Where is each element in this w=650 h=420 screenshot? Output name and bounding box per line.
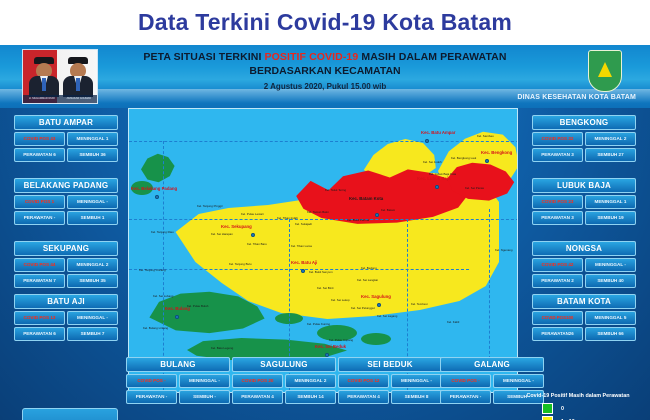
stat-meninggal: MENINGGAL 1 xyxy=(67,132,118,146)
map-legend: Covid-19 Positif Masih dalam Perawatan 0… xyxy=(512,393,644,420)
map-label-kelurahan: Kel. Sei Harapan xyxy=(211,233,233,236)
leader-names: H. MUHAMMAD RUDI AMSAKAR ACHMAD xyxy=(23,95,97,103)
stat-sembuh: SEMBUH 66 xyxy=(585,327,636,341)
map-label-kelurahan: Kel. Bukit Permai xyxy=(347,219,369,222)
map-label-sei-beduk: Kec. Sei Beduk xyxy=(315,345,346,349)
card-title: NONGSA xyxy=(532,241,636,256)
map-label-kelurahan: Kel. Tanjung Riau xyxy=(151,231,174,234)
map-label-kelurahan: Kel. Bedong xyxy=(361,267,377,270)
stat-sembuh: SEMBUH 35 xyxy=(67,274,118,288)
leader-name-left: H. MUHAMMAD RUDI xyxy=(29,98,55,101)
map-label-kelurahan: Kel. Sambau xyxy=(477,135,494,138)
stat-sembuh: SEMBUH - xyxy=(179,390,230,404)
stat-perawatan: PERAWATAN 2 xyxy=(532,274,583,288)
leader-figure-left xyxy=(29,57,59,97)
legend-row: 0 xyxy=(512,403,644,414)
map-point-lubuk-baja xyxy=(435,185,439,189)
map-label-kelurahan: Kel. Sukajadi xyxy=(295,223,312,226)
header-line1-part-a: PETA SITUASI TERKINI xyxy=(143,51,264,63)
header-line-2: BERDASARKAN KECAMATAN xyxy=(120,65,530,77)
map-label-kelurahan: Kel. Ngenang xyxy=(495,249,513,252)
header-date: 2 Agustus 2020, Pukul 15.00 wib xyxy=(120,82,530,91)
card-title: BELAKANG PADANG xyxy=(14,178,118,193)
card-stats: COVID POS 44 MENINGGAL 2 PERAWATAN 7 SEM… xyxy=(14,258,118,288)
stat-perawatan: PERAWATAN 6 xyxy=(14,327,65,341)
map-label-kelurahan: Kel. Tembesi xyxy=(411,303,428,306)
map-label-kelurahan: Kel. Sei Lagang xyxy=(377,315,397,318)
leaders-photo: H. MUHAMMAD RUDI AMSAKAR ACHMAD xyxy=(22,49,98,104)
map-label-kelurahan: Kel. Tiban Indah xyxy=(277,217,298,220)
kecamatan-card-bengkong[interactable]: BENGKONG COVID POS 32 MENINGGAL 2 PERAWA… xyxy=(532,115,636,162)
stat-perawatan: PERAWATAN - xyxy=(14,211,65,225)
map-label-kelurahan: Kel. Sei Binti xyxy=(317,287,333,290)
card-stats: COVID POS 42 MENINGGAL - PERAWATAN 2 SEM… xyxy=(532,258,636,288)
map-point-batam-kota xyxy=(375,213,379,217)
map-point-bulang xyxy=(175,315,179,319)
map-point-batu-aji xyxy=(301,269,305,273)
kecamatan-card-bulang[interactable]: BULANG COVID POS - MENINGGAL - PERAWATAN… xyxy=(126,357,230,404)
stat-sembuh: SEMBUH 27 xyxy=(585,148,636,162)
stat-meninggal: MENINGGAL - xyxy=(493,374,544,388)
kecamatan-card-batam-kota[interactable]: BATAM KOTA COVID POS100 MENINGGAL 5 PERA… xyxy=(532,294,636,341)
kecamatan-card-sekupang[interactable]: SEKUPANG COVID POS 44 MENINGGAL 2 PERAWA… xyxy=(14,241,118,288)
stat-covid-pos: COVID POS 12 xyxy=(338,374,389,388)
stat-covid-pos: COVID POS 23 xyxy=(532,195,583,209)
kecamatan-card-sei-beduk[interactable]: SEI BEDUK COVID POS 12 MENINGGAL - PERAW… xyxy=(338,357,442,404)
stat-perawatan: PERAWATAN - xyxy=(440,390,491,404)
stat-perawatan: PERAWATAN 3 xyxy=(532,148,583,162)
card-title: LUBUK BAJA xyxy=(532,178,636,193)
map-label-kelurahan: Kel. Bulang Lintang xyxy=(143,327,168,330)
stat-covid-pos: COVID POS 44 xyxy=(14,258,65,272)
legend-label: 0 xyxy=(561,406,564,412)
card-title: SEI BEDUK xyxy=(338,357,442,372)
stat-meninggal: MENINGGAL - xyxy=(585,258,636,272)
tie-shape xyxy=(76,78,80,91)
card-stats: COVID POS 1 MENINGGAL - PERAWATAN - SEMB… xyxy=(14,195,118,225)
map-label-kelurahan: Kel. Bengkong Laut xyxy=(451,157,476,160)
stat-sembuh: SEMBUH 36 xyxy=(67,148,118,162)
boundary-dash-mid xyxy=(129,219,518,220)
poster-header: H. MUHAMMAD RUDI AMSAKAR ACHMAD PETA SIT… xyxy=(0,45,650,108)
stat-covid-pos: COVID POS 42 xyxy=(532,258,583,272)
card-stats: COVID POS 20 MENINGGAL 2 PERAWATAN 4 SEM… xyxy=(232,374,336,404)
map-label-sagulung: Kec. Sagulung xyxy=(361,295,391,299)
card-title: GALANG xyxy=(440,357,544,372)
island-galang-small-b xyxy=(361,333,391,345)
boundary-dash-west xyxy=(163,141,164,391)
card-stats: COVID POS 32 MENINGGAL 2 PERAWATAN 3 SEM… xyxy=(532,132,636,162)
map-label-batam-kota: Kec. Batam Kota xyxy=(349,197,383,201)
map-point-sekupang xyxy=(251,233,255,237)
card-title: SEKUPANG xyxy=(14,241,118,256)
map-label-kelurahan: Kel. Pulau Buluh xyxy=(187,305,208,308)
boundary-dash-far-east xyxy=(489,209,490,359)
legend-swatch-1-10 xyxy=(542,416,553,420)
map-label-kelurahan: Kel. Bukit Senyum xyxy=(309,271,333,274)
stat-perawatan: PERAWATAN 6 xyxy=(14,148,65,162)
boundary-dash-north xyxy=(129,141,518,142)
stat-covid-pos: COVID POS - xyxy=(126,374,177,388)
batam-situation-map[interactable]: Kec. Batu Ampar Kec. Bengkong Kec. Lubuk… xyxy=(128,108,518,393)
stat-meninggal: MENINGGAL - xyxy=(391,374,442,388)
map-label-kelurahan: Kel. Batu Legong xyxy=(211,347,233,350)
stat-meninggal: MENINGGAL 5 xyxy=(585,311,636,325)
map-label-kelurahan: Kel. Sei Pelunggut xyxy=(351,307,375,310)
map-label-sekupang: Kec. Sekupang xyxy=(221,225,252,229)
stat-meninggal: MENINGGAL - xyxy=(67,195,118,209)
map-point-batu-ampar xyxy=(425,139,429,143)
kecamatan-card-sagulung[interactable]: SAGULUNG COVID POS 20 MENINGGAL 2 PERAWA… xyxy=(232,357,336,404)
map-label-kelurahan: Kel. Kabil xyxy=(447,321,459,324)
map-label-lubuk-baja: Kec. Lubuk Baja xyxy=(417,177,450,181)
card-stats: COVID POS 12 MENINGGAL - PERAWATAN 4 SEM… xyxy=(338,374,442,404)
map-label-kelurahan: Kel. Lubuk Baja Kota xyxy=(429,173,456,176)
stat-sembuh: SEMBUH 14 xyxy=(285,390,336,404)
stat-sembuh: SEMBUH 19 xyxy=(585,211,636,225)
stat-perawatan: PERAWATAN 4 xyxy=(232,390,283,404)
map-label-kelurahan: Kel. Taman Baloi xyxy=(307,211,329,214)
boundary-dash-south xyxy=(129,269,469,270)
map-label-batu-aji: Kec. Batu Aji xyxy=(291,261,317,265)
map-label-kelurahan: Kel. Sei Lubang xyxy=(153,295,173,298)
map-label-kelurahan: Kel. Pulau Lestari xyxy=(241,213,264,216)
map-label-kelurahan: Kel. Pulau Capang xyxy=(329,339,353,342)
stat-covid-pos: COVID POS 1 xyxy=(14,195,65,209)
map-label-kelurahan: Kel. Sei Langkai xyxy=(357,279,378,282)
leader-figure-right xyxy=(63,57,93,97)
header-line1-part-b: MASIH DALAM PERAWATAN xyxy=(358,51,506,63)
sail-shape xyxy=(598,62,612,77)
stat-meninggal: MENINGGAL 2 xyxy=(285,374,336,388)
legend-swatch-0 xyxy=(542,403,553,414)
poster-canvas: H. MUHAMMAD RUDI AMSAKAR ACHMAD PETA SIT… xyxy=(0,45,650,420)
leader-name-right: AMSAKAR ACHMAD xyxy=(67,98,92,101)
stat-covid-pos: COVID POS - xyxy=(440,374,491,388)
stat-sembuh: SEMBUH 7 xyxy=(67,327,118,341)
map-label-kelurahan: Kel. Tiban Baru xyxy=(247,243,267,246)
map-label-kelurahan: Kel. Tanjung Pinggir xyxy=(197,205,223,208)
header-title-block: PETA SITUASI TERKINI POSITIF COVID-19 MA… xyxy=(120,51,530,91)
map-label-kelurahan: Kel. Sei Panas xyxy=(465,187,484,190)
card-title: BATU AMPAR xyxy=(14,115,118,130)
map-label-batu-ampar: Kec. Batu Ampar xyxy=(421,131,455,135)
stat-perawatan: PERAWATAN 3 xyxy=(532,211,583,225)
map-point-bengkong xyxy=(485,159,489,163)
stat-sembuh: SEMBUH 40 xyxy=(585,274,636,288)
header-line1-highlight: POSITIF COVID-19 xyxy=(265,51,359,63)
legend-row: 1 - 10 xyxy=(512,416,644,420)
map-label-kelurahan: Kel. Tanjung Bulu xyxy=(229,263,251,266)
map-label-kelurahan: Kel. Sei Lekop xyxy=(331,299,350,302)
batam-emblem-icon xyxy=(588,50,622,92)
stat-perawatan: PERAWATAN26 xyxy=(532,327,583,341)
stat-meninggal: MENINGGAL 1 xyxy=(585,195,636,209)
stat-perawatan: PERAWATAN - xyxy=(126,390,177,404)
stat-meninggal: MENINGGAL 2 xyxy=(67,258,118,272)
stat-meninggal: MENINGGAL 2 xyxy=(585,132,636,146)
header-line-1: PETA SITUASI TERKINI POSITIF COVID-19 MA… xyxy=(120,51,530,63)
stat-meninggal: MENINGGAL - xyxy=(179,374,230,388)
kecamatan-card-batu-ampar[interactable]: BATU AMPAR COVID POS 43 MENINGGAL 1 PERA… xyxy=(14,115,118,162)
stat-perawatan: PERAWATAN 4 xyxy=(338,390,389,404)
stat-covid-pos: COVID POS 13 xyxy=(14,311,65,325)
map-label-kelurahan: Kel. Sei Jodoh xyxy=(423,161,442,164)
card-title: BENGKONG xyxy=(532,115,636,130)
island-belakang-padang xyxy=(137,151,177,185)
kecamatan-card-lubuk-baja[interactable]: LUBUK BAJA COVID POS 23 MENINGGAL 1 PERA… xyxy=(532,178,636,225)
map-label-belakang-padang: Kec. Belakang Padang xyxy=(131,187,177,191)
luar-wilayah-box[interactable]: Covid-19 Pos Luar Wilayah Batam 2 xyxy=(22,408,118,420)
stat-perawatan: PERAWATAN 7 xyxy=(14,274,65,288)
map-point-belakang-padang xyxy=(155,195,159,199)
map-label-kelurahan: Kel. Batam xyxy=(381,209,395,212)
card-stats: COVID POS100 MENINGGAL 5 PERAWATAN26 SEM… xyxy=(532,311,636,341)
stat-covid-pos: COVID POS 43 xyxy=(14,132,65,146)
card-title: SAGULUNG xyxy=(232,357,336,372)
map-label-kelurahan: Kel. Tiban Lama xyxy=(291,245,312,248)
map-label-kelurahan: Kel. Teluk Tering xyxy=(325,189,346,192)
tie-shape xyxy=(42,78,46,91)
map-point-sagulung xyxy=(377,303,381,307)
card-stats: COVID POS 13 MENINGGAL - PERAWATAN 6 SEM… xyxy=(14,311,118,341)
stat-sembuh: SEMBUH 1 xyxy=(67,211,118,225)
stat-covid-pos: COVID POS100 xyxy=(532,311,583,325)
stat-covid-pos: COVID POS 32 xyxy=(532,132,583,146)
map-label-kelurahan: Kel. Tanjung Uncang xyxy=(139,269,166,272)
card-stats: COVID POS - MENINGGAL - PERAWATAN - SEMB… xyxy=(126,374,230,404)
kecamatan-card-nongsa[interactable]: NONGSA COVID POS 42 MENINGGAL - PERAWATA… xyxy=(532,241,636,288)
kecamatan-card-belakang-padang[interactable]: BELAKANG PADANG COVID POS 1 MENINGGAL - … xyxy=(14,178,118,225)
map-label-kelurahan: Kel. Pulau Kuning xyxy=(307,323,330,326)
agency-name: DINAS KESEHATAN KOTA BATAM xyxy=(517,94,636,101)
card-stats: COVID POS 43 MENINGGAL 1 PERAWATAN 6 SEM… xyxy=(14,132,118,162)
legend-title: Covid-19 Positif Masih dalam Perawatan xyxy=(512,393,644,399)
page-title: Data Terkini Covid-19 Kota Batam xyxy=(0,0,650,45)
card-title: BULANG xyxy=(126,357,230,372)
kecamatan-card-batu-aji[interactable]: BATU AJI COVID POS 13 MENINGGAL - PERAWA… xyxy=(14,294,118,341)
card-title: BATAM KOTA xyxy=(532,294,636,309)
stat-sembuh: SEMBUH 8 xyxy=(391,390,442,404)
stat-covid-pos: COVID POS 20 xyxy=(232,374,283,388)
card-title: BATU AJI xyxy=(14,294,118,309)
map-label-bengkong: Kec. Bengkong xyxy=(481,151,512,155)
stat-meninggal: MENINGGAL - xyxy=(67,311,118,325)
card-stats: COVID POS 23 MENINGGAL 1 PERAWATAN 3 SEM… xyxy=(532,195,636,225)
